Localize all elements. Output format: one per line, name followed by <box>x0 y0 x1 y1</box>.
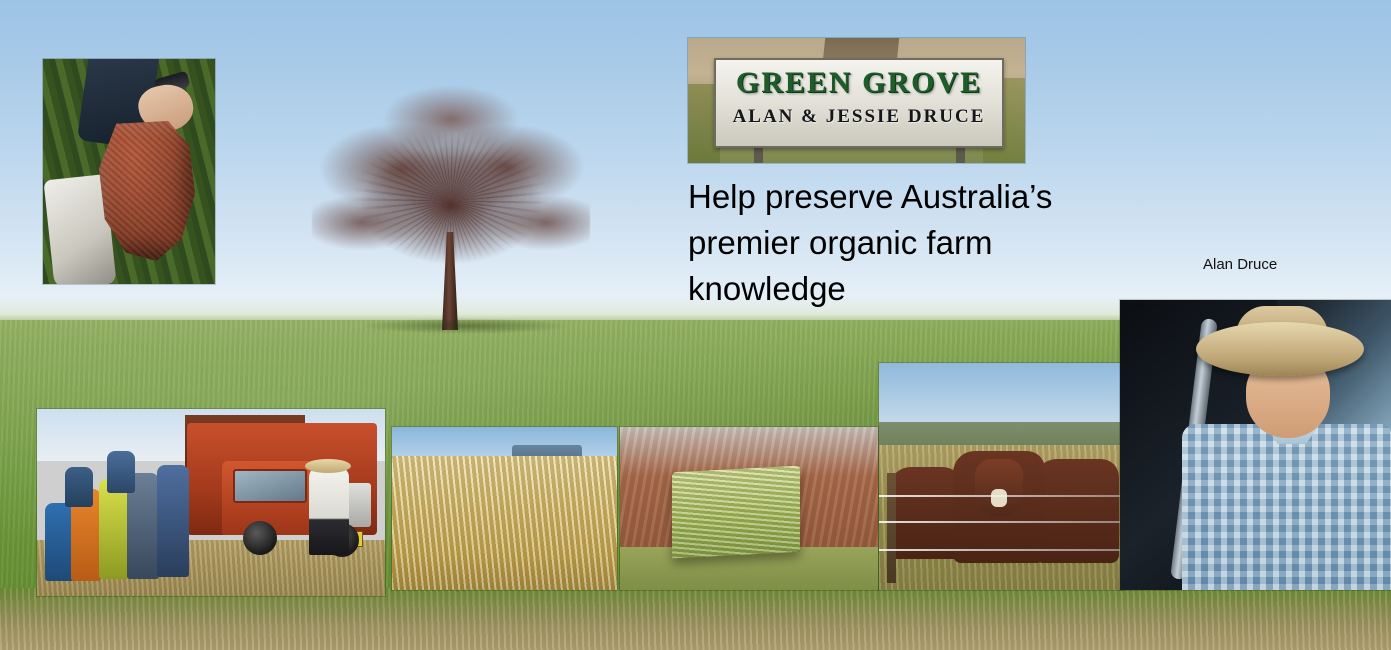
sign-title-text: GREEN GROVE <box>716 66 1002 100</box>
portrait-check-shirt <box>1182 424 1391 590</box>
truck-photo-person-3 <box>99 479 129 579</box>
truck-photo-windscreen <box>233 469 307 503</box>
wheat-crop-photo <box>392 427 617 590</box>
slide-canvas: GREEN GROVE ALAN & JESSIE DRUCE Help pre… <box>0 0 1391 650</box>
truck-photo-person-5 <box>157 465 189 577</box>
cattle-photo-cow-3 <box>1035 459 1119 563</box>
green-grove-sign-photo: GREEN GROVE ALAN & JESSIE DRUCE <box>688 38 1025 163</box>
alan-druce-portrait-photo <box>1120 300 1391 590</box>
truck-photo-person-6 <box>65 467 93 507</box>
hay-bale-photo <box>620 427 878 590</box>
cattle-photo-cow-1 <box>889 467 961 559</box>
lone-tree <box>300 72 600 330</box>
truck-photo-man-in-white-shirt <box>309 467 349 555</box>
portrait-caption: Alan Druce <box>1203 256 1277 273</box>
slide-headline: Help preserve Australia’s premier organi… <box>688 174 1118 312</box>
cattle-photo-fence-wire-bottom <box>879 549 1123 551</box>
sign-subtitle-text: ALAN & JESSIE DRUCE <box>716 106 1002 128</box>
soil-sample-photo <box>43 59 215 284</box>
sign-board: GREEN GROVE ALAN & JESSIE DRUCE <box>714 58 1004 148</box>
cattle-photo-fence-wire-mid <box>879 521 1123 523</box>
portrait-hat-brim <box>1196 322 1364 376</box>
group-truck-photo <box>37 409 385 596</box>
cattle-photo-cow-face <box>975 459 1023 517</box>
hay-photo-bale <box>672 466 800 559</box>
wheat-photo-crop <box>392 456 617 590</box>
cattle-photo-fence-post <box>887 473 896 583</box>
cattle-photo-cow-muzzle <box>991 489 1007 507</box>
tree-shadow <box>360 318 570 334</box>
cattle-photo <box>879 363 1123 590</box>
truck-photo-wide-brim-hat <box>305 459 351 473</box>
cattle-photo-fence-wire-top <box>879 495 1123 497</box>
truck-photo-people-group <box>43 469 193 589</box>
stubble-foreground-layer <box>0 588 1391 650</box>
truck-photo-person-7 <box>107 451 135 493</box>
truck-photo-rear-wheel <box>243 521 277 555</box>
